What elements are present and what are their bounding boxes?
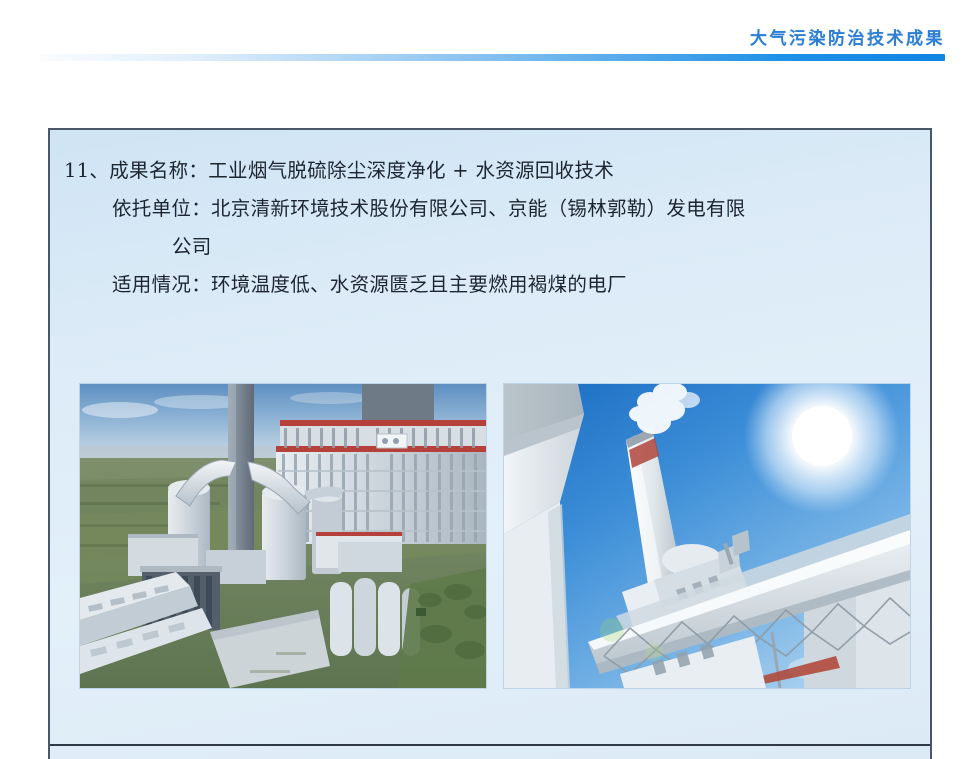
- entry-line-supporting-unit-continued: 公司: [64, 228, 920, 266]
- entry-line-text: 11、成果名称：工业烟气脱硫除尘深度净化 + 水资源回收技术: [64, 159, 614, 182]
- entry-line-text: 公司: [172, 235, 212, 258]
- photo-chimney-upward: [504, 384, 910, 688]
- content-panel: 11、成果名称：工业烟气脱硫除尘深度净化 + 水资源回收技术 依托单位：北京清新…: [48, 128, 932, 759]
- chimney-upward-illustration: [504, 384, 910, 688]
- page-header-title: 大气污染防治技术成果: [750, 24, 945, 49]
- power-plant-aerial-illustration: [80, 384, 486, 688]
- page-header: 大气污染防治技术成果: [0, 0, 971, 70]
- photo-row: [80, 384, 906, 688]
- header-divider-rule: [40, 54, 945, 61]
- entry-line-result-name: 11、成果名称：工业烟气脱硫除尘深度净化 + 水资源回收技术: [64, 152, 920, 190]
- entry-line-applicable-situation: 适用情况：环境温度低、水资源匮乏且主要燃用褐煤的电厂: [64, 266, 920, 304]
- photo-power-plant-aerial: [80, 384, 486, 688]
- section-divider: [50, 744, 930, 746]
- entry-line-text: 依托单位：北京清新环境技术股份有限公司、京能（锡林郭勒）发电有限: [112, 197, 746, 220]
- entry-line-text: 适用情况：环境温度低、水资源匮乏且主要燃用褐煤的电厂: [112, 273, 627, 296]
- entry-text-block: 11、成果名称：工业烟气脱硫除尘深度净化 + 水资源回收技术 依托单位：北京清新…: [64, 152, 920, 304]
- entry-line-supporting-unit: 依托单位：北京清新环境技术股份有限公司、京能（锡林郭勒）发电有限: [64, 190, 920, 228]
